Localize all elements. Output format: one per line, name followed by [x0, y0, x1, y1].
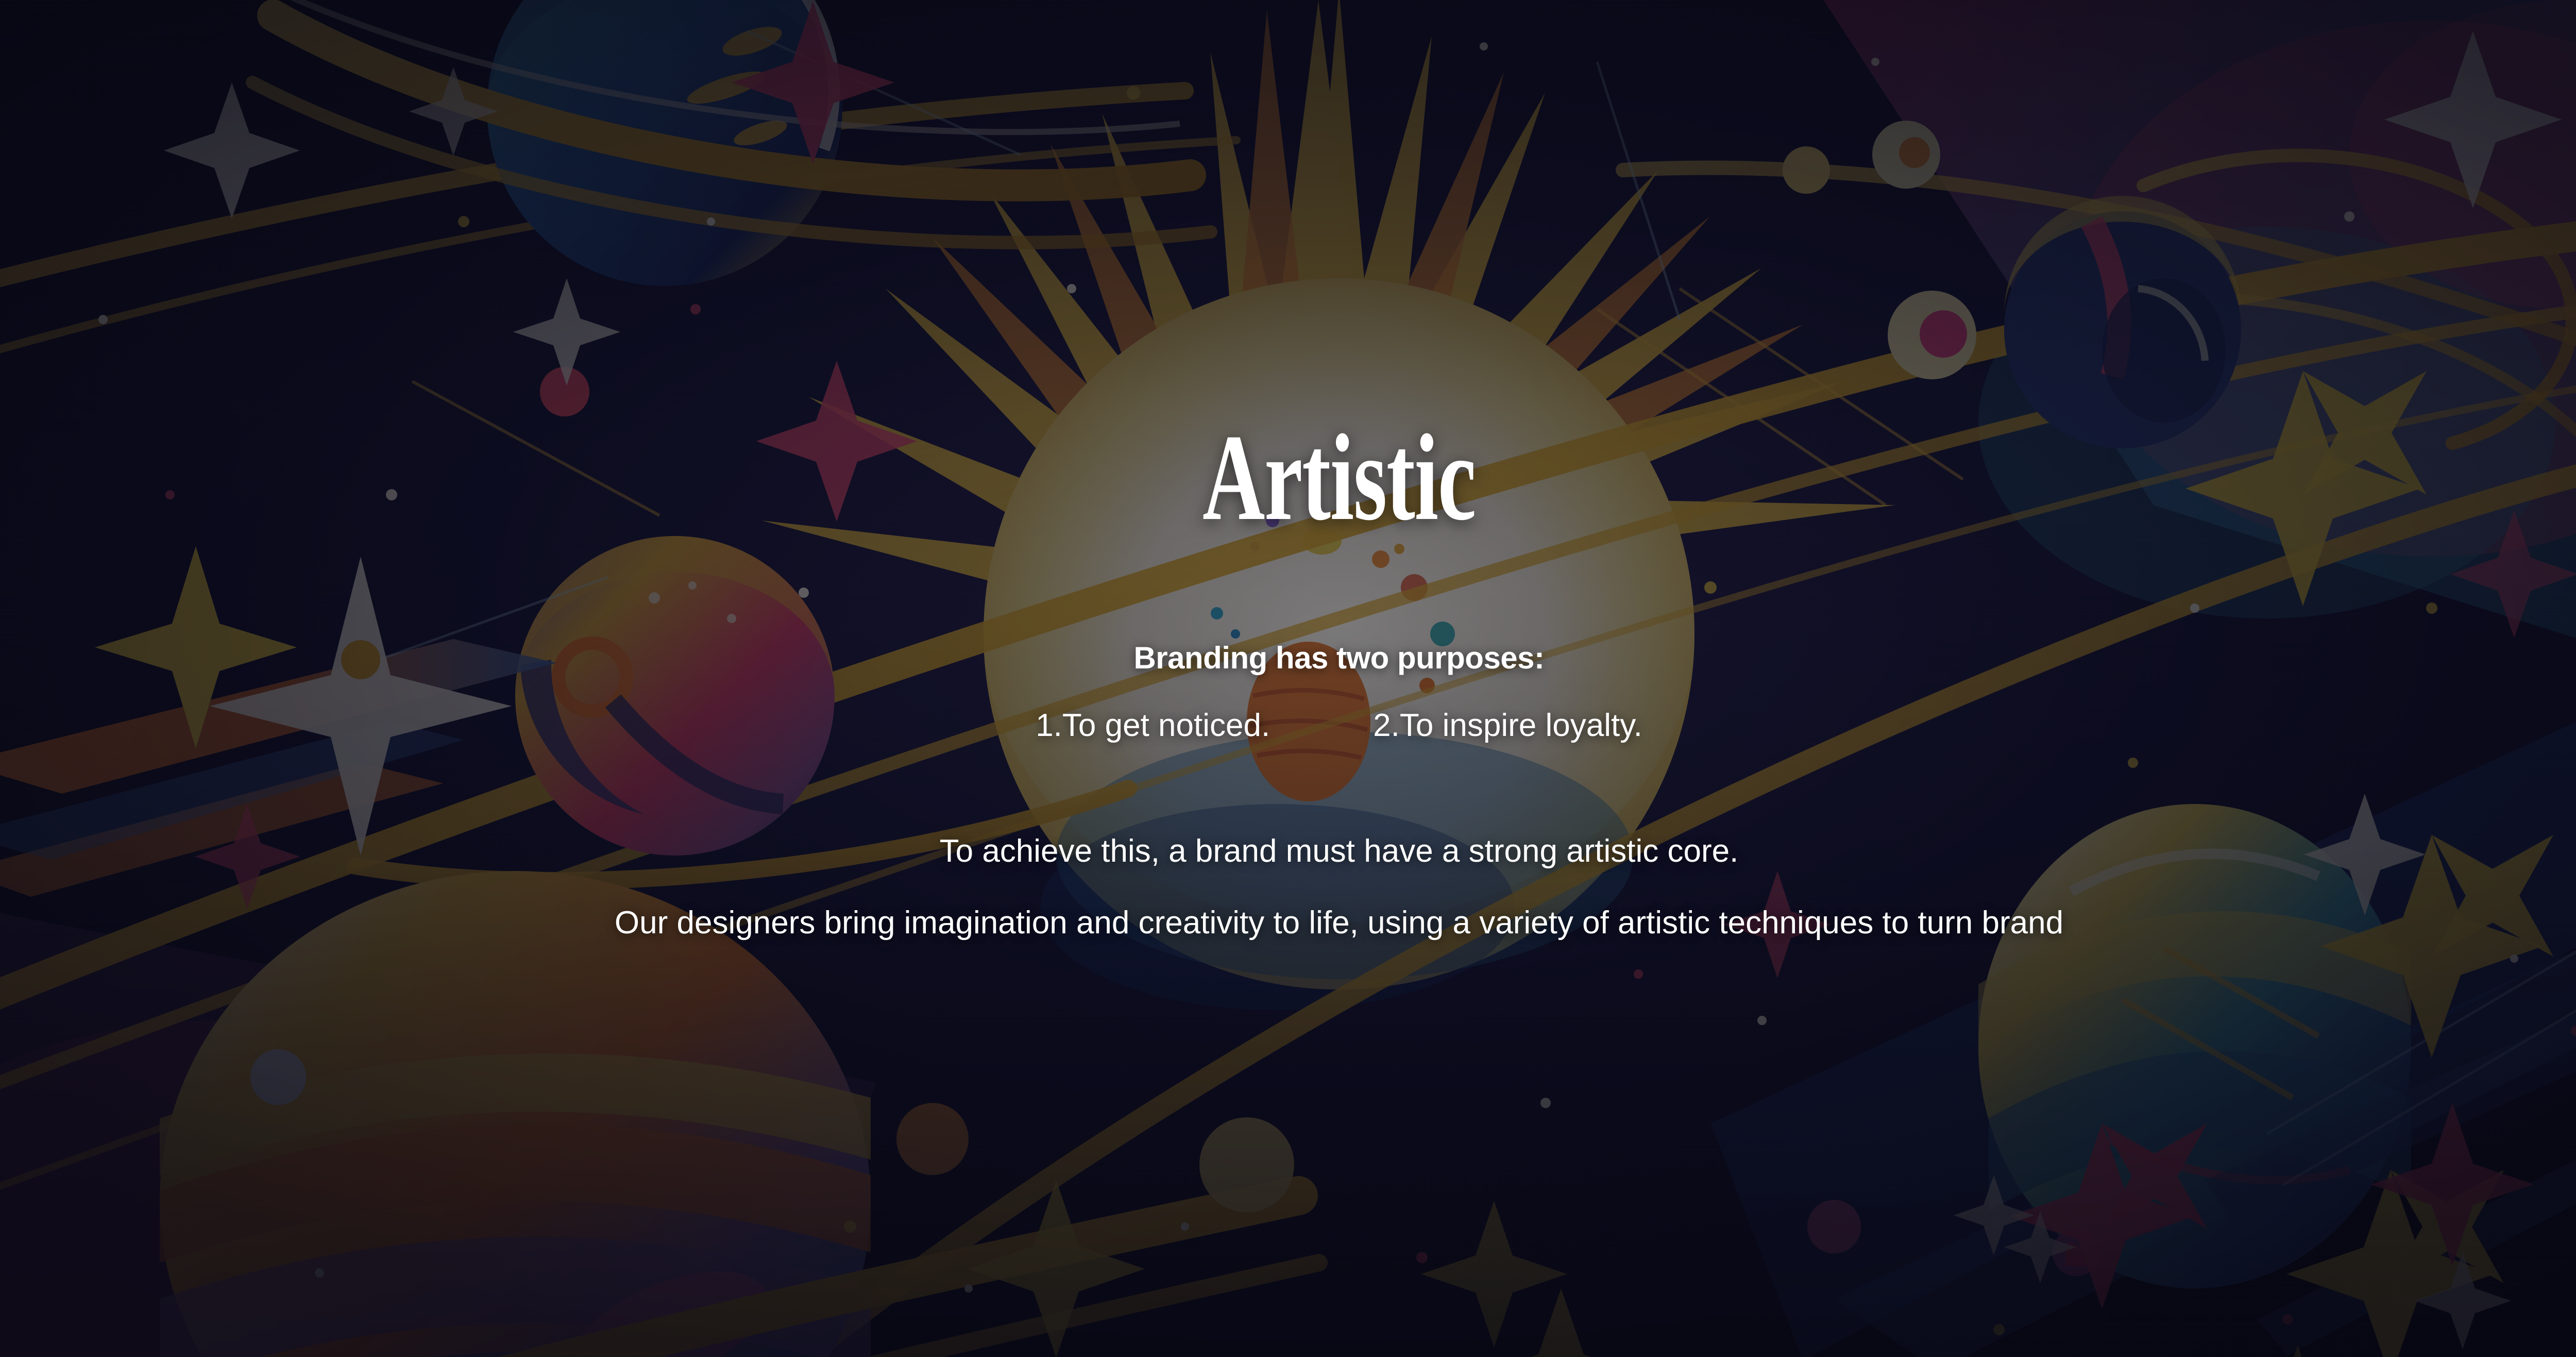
purpose-item-1: 1.To get noticed.	[1036, 707, 1270, 744]
body-line-achieve: To achieve this, a brand must have a str…	[0, 833, 2576, 869]
body-line-designers: Our designers bring imagination and crea…	[0, 904, 2576, 941]
purpose-item-2: 2.To inspire loyalty.	[1373, 707, 1642, 744]
purpose-list: 1.To get noticed. 2.To inspire loyalty.	[0, 707, 2576, 744]
slide-canvas: Artistic Branding has two purposes: 1.To…	[0, 0, 2576, 1357]
subheading: Branding has two purposes:	[0, 640, 2576, 676]
slide-content: Artistic Branding has two purposes: 1.To…	[0, 0, 2576, 1357]
page-title: Artistic	[402, 415, 2277, 539]
